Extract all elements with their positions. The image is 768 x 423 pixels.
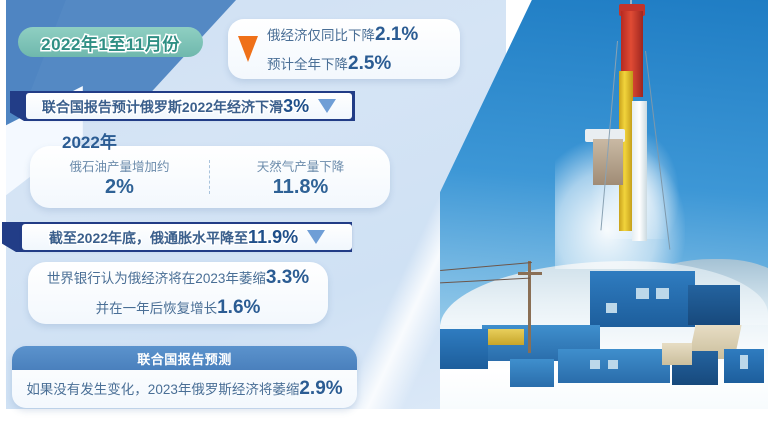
- inflation-band-text: 截至2022年底，俄通胀水平降至11.9%: [49, 227, 298, 248]
- gdp-line-2: 预计全年下降2.5%: [267, 50, 418, 78]
- production-stat-gas-value: 11.8%: [273, 176, 329, 199]
- world-bank-line-1-value: 3.3%: [266, 267, 309, 288]
- inflation-band-value: 11.9%: [248, 227, 298, 247]
- world-bank-line-1: 世界银行认为俄经济将在2023年萎缩3.3%: [47, 264, 309, 293]
- photo-cream-tank: [662, 343, 692, 365]
- gdp-line-2-text: 预计全年下降: [267, 57, 348, 72]
- un-forecast-card-title: 联合国报告预测: [137, 349, 232, 368]
- un-band-prefix: 联合国报告预计俄罗斯2022年经济下滑: [42, 99, 283, 115]
- gdp-line-1-value: 2.1%: [375, 24, 418, 45]
- production-stat-oil-value: 2%: [105, 176, 134, 199]
- photo-rig-module-far-left: [440, 329, 488, 369]
- down-triangle-orange-icon: [238, 36, 258, 62]
- production-stat-gas-caption: 天然气产量下降: [257, 156, 345, 175]
- photo-module-window: [656, 288, 669, 299]
- production-stat-gas: 天然气产量下降 11.8%: [211, 156, 390, 199]
- photo-rig-module-right: [688, 285, 740, 325]
- un-forecast-card: 联合国报告预测 如果没有发生变化，2023年俄罗斯经济将萎缩2.9%: [12, 346, 357, 408]
- production-stat-oil: 俄石油产量增加约 2%: [30, 156, 209, 199]
- world-bank-card: 世界银行认为俄经济将在2023年萎缩3.3% 并在一年后恢复增长1.6%: [28, 262, 328, 324]
- period-pill-label: 2022年1至11月份: [41, 30, 180, 55]
- photo-trailer-window: [608, 360, 618, 369]
- gdp-line-1: 俄经济仅同比下降2.1%: [267, 21, 418, 49]
- production-stats-row: 俄石油产量增加约 2% 天然气产量下降 11.8%: [30, 146, 390, 208]
- infographic-root: 2022年1至11月份 俄经济仅同比下降2.1% 预计全年下降2.5% 联合国报…: [0, 0, 768, 423]
- photo-module-window: [636, 288, 649, 299]
- photo-rig-base-module: [590, 271, 695, 327]
- inflation-band: 截至2022年底，俄通胀水平降至11.9%: [22, 224, 352, 250]
- period-pill: 2022年1至11月份: [18, 27, 203, 57]
- down-triangle-blue-icon: [307, 230, 325, 244]
- world-bank-line-2-value: 1.6%: [217, 297, 260, 318]
- un-forecast-body-text: 如果没有发生变化，2023年俄罗斯经济将萎缩: [26, 382, 299, 397]
- production-stat-oil-caption: 俄石油产量增加约: [69, 156, 169, 175]
- un-forecast-body-line: 如果没有发生变化，2023年俄罗斯经济将萎缩2.9%: [26, 375, 342, 403]
- un-band-text: 联合国报告预计俄罗斯2022年经济下滑3%: [42, 96, 309, 117]
- photo-derrick-white-section: [632, 101, 647, 241]
- gdp-line-2-value: 2.5%: [348, 53, 391, 74]
- down-triangle-blue-icon: [318, 99, 336, 113]
- un-forecast-body-value: 2.9%: [299, 378, 342, 399]
- photo-container-window: [740, 355, 748, 369]
- photo-pole-crossarm: [518, 272, 542, 275]
- inflation-band-prefix: 截至2022年底，俄通胀水平降至: [49, 230, 248, 246]
- world-bank-line-1-text: 世界银行认为俄经济将在2023年萎缩: [47, 271, 266, 286]
- un-forecast-card-body: 如果没有发生变化，2023年俄罗斯经济将萎缩2.9%: [12, 370, 357, 408]
- world-bank-line-2-text: 并在一年后恢复增长: [96, 301, 218, 316]
- photo-module-window: [606, 303, 617, 313]
- world-bank-line-2: 并在一年后恢复增长1.6%: [96, 294, 261, 323]
- gdp-decline-card: 俄经济仅同比下降2.1% 预计全年下降2.5%: [228, 19, 460, 79]
- photo-yellow-equipment: [484, 329, 524, 345]
- photo-blue-vehicle: [510, 359, 554, 387]
- gdp-line-1-text: 俄经济仅同比下降: [267, 28, 375, 43]
- un-forecast-band: 联合国报告预计俄罗斯2022年经济下滑3%: [26, 93, 352, 119]
- photo-trailer-window: [590, 360, 600, 369]
- photo-drilling-derrick: [615, 11, 649, 261]
- un-forecast-card-header: 联合国报告预测: [12, 346, 357, 370]
- un-band-value: 3%: [283, 96, 309, 116]
